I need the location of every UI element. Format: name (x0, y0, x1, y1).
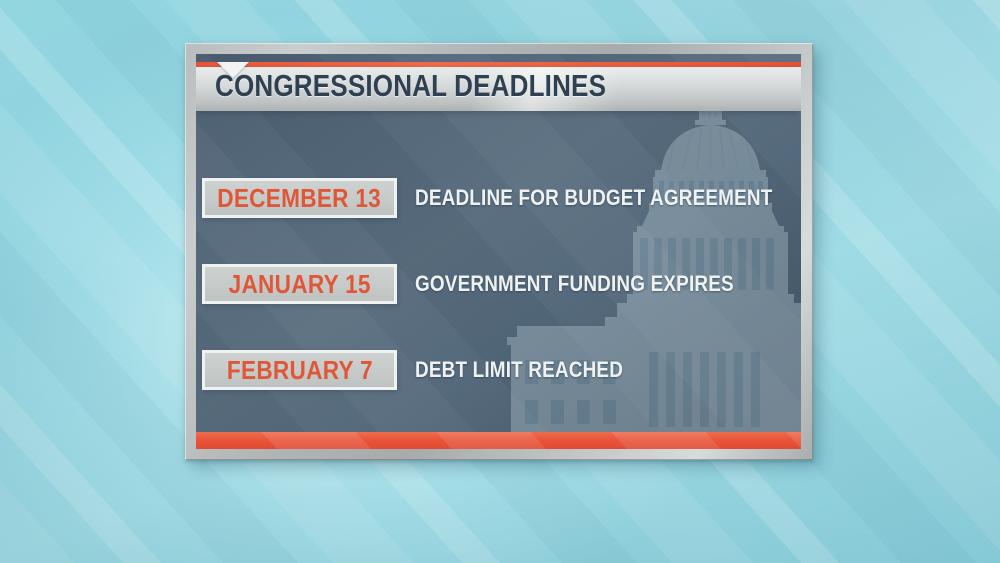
date-label: FEBRUARY 7 (227, 357, 373, 383)
page-title: CONGRESSIONAL DEADLINES (215, 70, 606, 101)
title-bar: CONGRESSIONAL DEADLINES (196, 62, 801, 116)
triangle-down-icon (217, 62, 249, 78)
bottom-accent-bar (196, 432, 801, 449)
deadline-description: DEADLINE FOR BUDGET AGREEMENT (415, 187, 772, 209)
date-badge: JANUARY 15 (202, 264, 397, 304)
date-badge: FEBRUARY 7 (202, 350, 397, 390)
date-label: DECEMBER 13 (218, 185, 382, 211)
date-badge: DECEMBER 13 (202, 178, 397, 218)
list-item: DECEMBER 13 DEADLINE FOR BUDGET AGREEMEN… (202, 178, 801, 218)
deadline-description: DEBT LIMIT REACHED (415, 359, 623, 381)
list-item: JANUARY 15 GOVERNMENT FUNDING EXPIRES (202, 264, 801, 304)
graphic-screen: CONGRESSIONAL DEADLINES DECEMBER 13 DEAD… (196, 54, 801, 449)
deadline-description: GOVERNMENT FUNDING EXPIRES (415, 273, 734, 295)
list-item: FEBRUARY 7 DEBT LIMIT REACHED (202, 350, 801, 390)
date-label: JANUARY 15 (228, 271, 370, 297)
graphic-panel-frame: CONGRESSIONAL DEADLINES DECEMBER 13 DEAD… (185, 43, 813, 460)
deadline-list: DECEMBER 13 DEADLINE FOR BUDGET AGREEMEN… (202, 178, 801, 436)
broadcast-graphic-screenshot: CONGRESSIONAL DEADLINES DECEMBER 13 DEAD… (0, 0, 1000, 563)
